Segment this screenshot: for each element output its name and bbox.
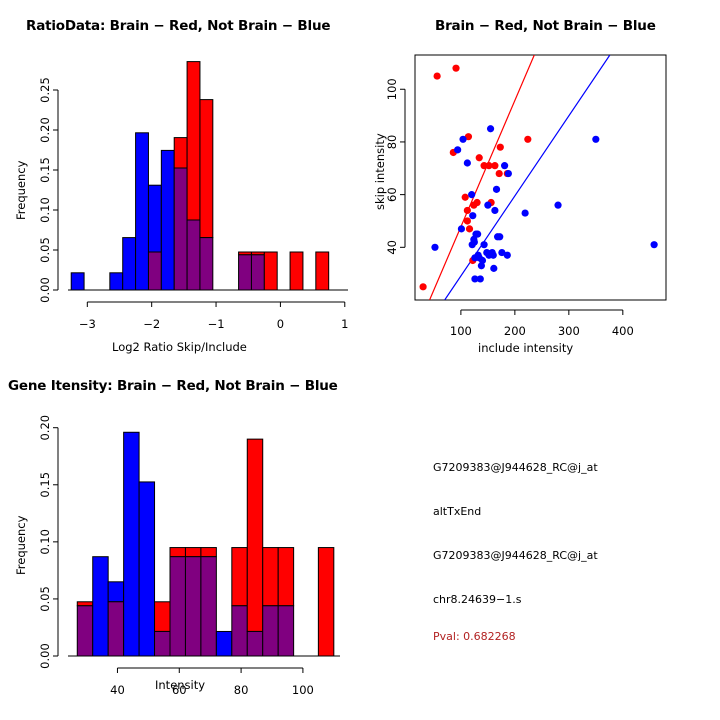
x-tick-label: 80 — [234, 683, 249, 697]
histogram-bar — [316, 252, 329, 290]
x-tick-label: −1 — [208, 317, 225, 331]
scatter-box-group — [415, 55, 666, 300]
x-tick-label: 400 — [612, 324, 634, 338]
histogram-bar — [170, 548, 185, 557]
scatter-point — [454, 146, 461, 153]
scatter-point — [493, 186, 500, 193]
histogram-bar — [77, 602, 92, 606]
histogram-bar — [93, 557, 108, 656]
scatter-point — [474, 231, 481, 238]
histogram-bar-overlap — [201, 557, 216, 656]
y-tick-label: 0.25 — [38, 77, 52, 103]
histogram-bar — [174, 138, 187, 168]
probe-info-panel: G7209383@J944628_RC@j_at altTxEnd G72093… — [415, 418, 660, 665]
scatter-point — [466, 225, 473, 232]
y-tick-label: 0.10 — [38, 529, 52, 555]
scatter-point — [476, 154, 483, 161]
ratio-bars-group — [68, 62, 348, 290]
ratio-histogram-plot: −3−2−1010.000.050.100.150.200.25 — [0, 0, 360, 360]
histogram-bar — [185, 548, 200, 557]
histogram-bar — [201, 548, 216, 557]
panel-gene-intensity-histogram: Gene Itensity: Brain − Red, Not Brain − … — [0, 360, 360, 720]
scatter-point — [592, 136, 599, 143]
x-tick-label: 0 — [277, 317, 284, 331]
x-tick-label: 1 — [341, 317, 348, 331]
scatter-point — [459, 136, 466, 143]
x-tick-label: 200 — [504, 324, 526, 338]
histogram-bar-overlap — [155, 631, 170, 656]
y-tick-label: 0.20 — [38, 117, 52, 143]
scatter-point — [497, 144, 504, 151]
scatter-point — [487, 125, 494, 132]
histogram-bar — [139, 482, 154, 656]
y-tick-label: 80 — [385, 135, 399, 150]
histogram-bar-overlap — [232, 606, 247, 656]
histogram-bar — [71, 273, 84, 290]
histogram-bar-overlap — [174, 168, 187, 290]
scatter-point — [504, 252, 511, 259]
histogram-bar-overlap — [77, 606, 92, 656]
histogram-bar — [232, 548, 247, 606]
scatter-point — [490, 252, 497, 259]
histogram-bar-overlap — [108, 602, 123, 656]
regression-line — [445, 55, 610, 300]
scatter-point — [464, 217, 471, 224]
histogram-bar-overlap — [185, 557, 200, 656]
y-tick-label: 0.10 — [38, 197, 52, 223]
y-tick-label: 100 — [385, 78, 399, 100]
histogram-bar — [123, 238, 136, 290]
histogram-bar-overlap — [239, 255, 252, 290]
histogram-bar — [148, 185, 161, 252]
scatter-plot-area: 100200300400406080100 — [360, 0, 720, 360]
histogram-bar-overlap — [251, 255, 264, 290]
histogram-bar — [318, 548, 333, 656]
panel-ratio-histogram: RatioData: Brain − Red, Not Brain − Blue… — [0, 0, 360, 360]
x-tick-label: 300 — [558, 324, 580, 338]
histogram-bar — [110, 273, 123, 290]
scatter-point — [431, 244, 438, 251]
histogram-bar-overlap — [263, 606, 278, 656]
scatter-point — [469, 212, 476, 219]
scatter-point — [477, 275, 484, 282]
scatter-point — [505, 170, 512, 177]
histogram-bar — [263, 548, 278, 606]
info-panel-background — [415, 418, 660, 665]
scatter-point — [496, 170, 503, 177]
histogram-bar — [155, 602, 170, 632]
scatter-point — [491, 162, 498, 169]
scatter-point — [501, 162, 508, 169]
info-event-type: altTxEnd — [433, 505, 481, 518]
histogram-bar-overlap — [187, 220, 200, 290]
y-tick-label: 0.15 — [38, 157, 52, 183]
scatter-point — [490, 265, 497, 272]
y-tick-label: 0.15 — [38, 472, 52, 498]
scatter-content-group — [419, 55, 657, 300]
scatter-point — [464, 207, 471, 214]
histogram-bar — [200, 100, 213, 238]
y-tick-label: 40 — [385, 240, 399, 255]
x-tick-label: 40 — [110, 683, 125, 697]
histogram-bar — [124, 432, 139, 656]
gene-histogram-plot: 4060801000.000.050.100.150.20 — [0, 360, 360, 700]
histogram-bar-overlap — [148, 252, 161, 290]
scatter-point — [491, 207, 498, 214]
info-probe-id: G7209383@J944628_RC@j_at — [433, 461, 598, 474]
scatter-point — [419, 283, 426, 290]
scatter-point — [468, 191, 475, 198]
x-tick-label: 100 — [292, 683, 314, 697]
histogram-bar-overlap — [247, 631, 262, 656]
histogram-bar — [278, 548, 293, 606]
scatter-point — [464, 159, 471, 166]
histogram-bar — [187, 62, 200, 220]
histogram-bar — [216, 631, 231, 656]
histogram-bar — [290, 252, 303, 290]
scatter-point — [452, 65, 459, 72]
scatter-point — [524, 136, 531, 143]
y-tick-label: 0.05 — [38, 586, 52, 612]
scatter-point — [470, 202, 477, 209]
scatter-point — [471, 238, 478, 245]
y-tick-label: 0.00 — [38, 643, 52, 669]
scatter-point — [458, 225, 465, 232]
scatter-point — [522, 209, 529, 216]
info-coordinate: chr8.24639−1.s — [433, 593, 521, 606]
y-tick-label: 0.05 — [38, 237, 52, 263]
figure-canvas: RatioData: Brain − Red, Not Brain − Blue… — [0, 0, 720, 720]
panel-intensity-scatter: Brain − Red, Not Brain − Blue skip inten… — [360, 0, 720, 360]
scatter-point — [484, 202, 491, 209]
x-tick-label: −2 — [143, 317, 160, 331]
scatter-point — [462, 194, 469, 201]
scatter-axes-group: 100200300400406080100 — [385, 78, 634, 338]
plot-frame — [415, 55, 666, 300]
y-tick-label: 0.00 — [38, 277, 52, 303]
histogram-bar-overlap — [170, 557, 185, 656]
scatter-point — [651, 241, 658, 248]
x-tick-label: 60 — [172, 683, 187, 697]
scatter-point — [496, 233, 503, 240]
histogram-bar-overlap — [278, 606, 293, 656]
info-pval: Pval: 0.682268 — [433, 630, 516, 643]
histogram-bar-overlap — [200, 238, 213, 290]
histogram-bar — [247, 439, 262, 631]
x-tick-label: 100 — [450, 324, 472, 338]
y-tick-label: 60 — [385, 187, 399, 202]
scatter-point — [480, 241, 487, 248]
histogram-bar — [161, 150, 174, 290]
x-tick-label: −3 — [79, 317, 96, 331]
scatter-point — [434, 72, 441, 79]
histogram-bar — [264, 252, 277, 290]
histogram-bar — [136, 133, 149, 290]
histogram-bar — [108, 582, 123, 602]
info-probe-id-2: G7209383@J944628_RC@j_at — [433, 549, 598, 562]
y-tick-label: 0.20 — [38, 415, 52, 441]
scatter-point — [479, 257, 486, 264]
scatter-point — [554, 202, 561, 209]
gene-bars-group — [68, 432, 340, 656]
